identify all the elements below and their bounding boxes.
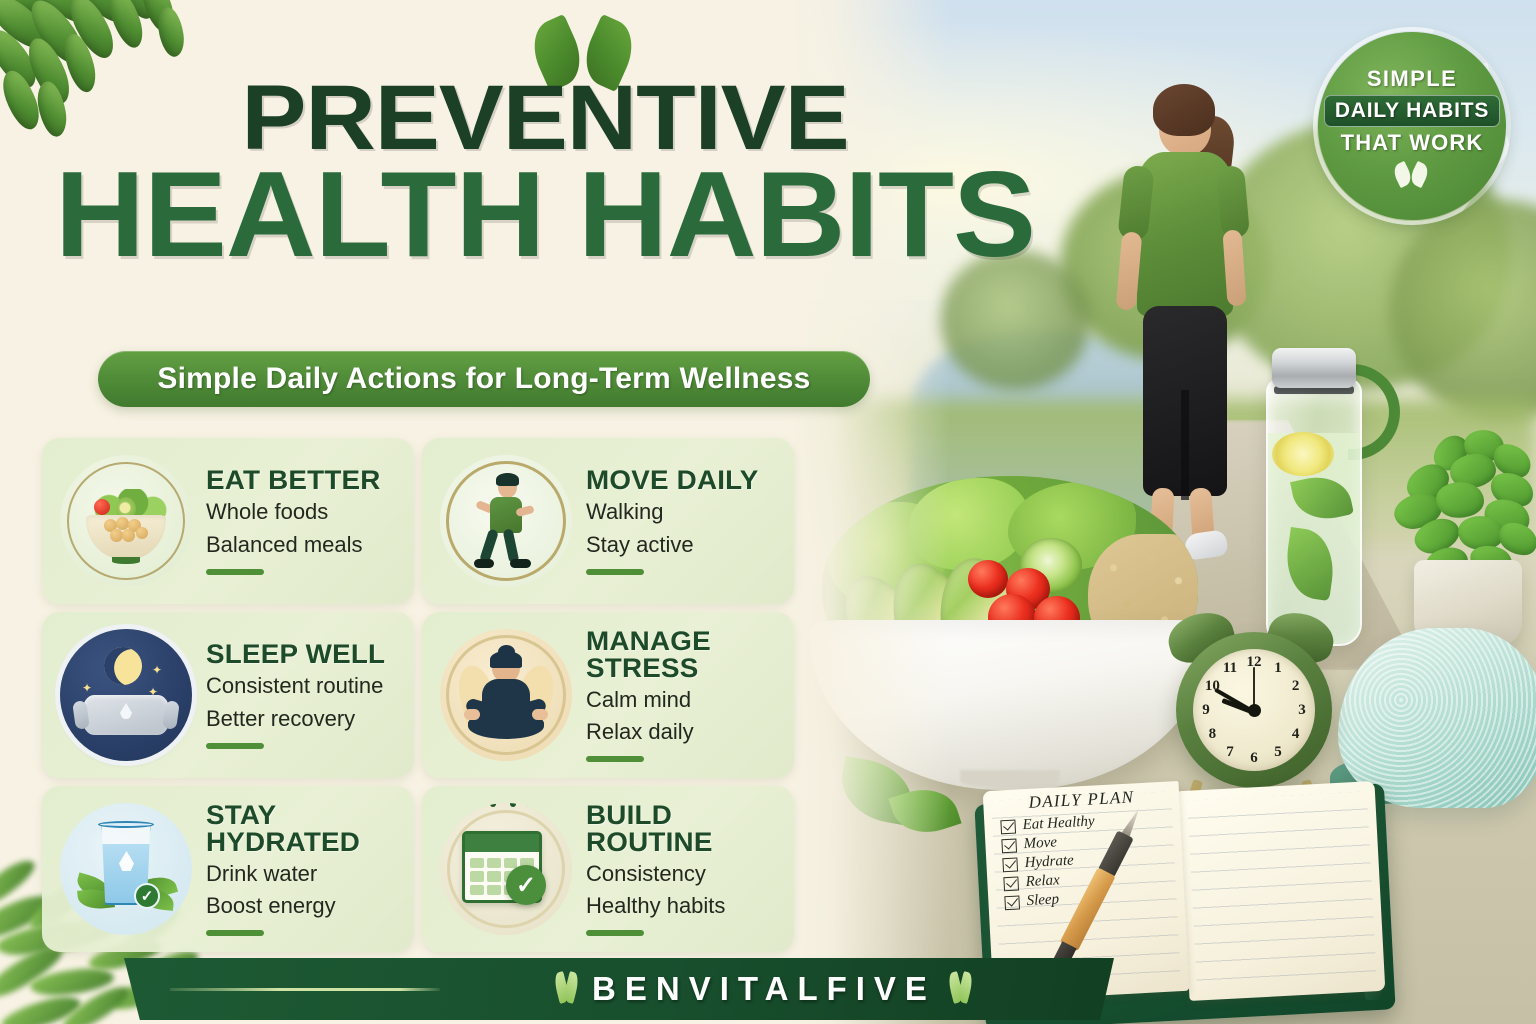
plan-item-label: Sleep [1026,891,1059,910]
leg [479,528,499,563]
accent-rule [206,569,264,575]
star-icon: ✦ [152,663,162,677]
leaf-pair-icon [556,972,578,1006]
calendar-day-cell [487,871,501,881]
accent-rule [206,930,264,936]
clock-numeral: 11 [1222,660,1238,676]
arm [475,500,495,514]
hair [496,473,519,486]
calendar-day-cell [504,871,518,881]
card-text: EAT BETTER Whole foods Balanced meals [206,467,376,574]
subtitle-text: Simple Daily Actions for Long-Term Welln… [157,362,810,396]
lemon-slice [1272,432,1334,476]
crescent-moon-icon [99,642,147,690]
hair-bun [498,645,515,659]
calendar-day-cell [470,885,484,895]
clock-numeral: 5 [1270,744,1286,760]
card-line-1: Whole foods [206,498,376,526]
salad-bowl-icon [60,455,192,587]
card-line-2: Healthy habits [586,892,778,920]
badge-line-1: SIMPLE [1367,66,1457,92]
ruled-lines [1187,791,1377,990]
arm [517,697,548,718]
card-line-1: Consistent routine [206,672,383,700]
leaf-pair-icon [950,972,972,1006]
footer-divider [170,988,440,991]
clock-numeral: 10 [1204,678,1220,694]
shoe [510,559,531,568]
status-badge: SIMPLE DAILY HABITS THAT WORK [1318,32,1506,220]
badge-line-3: THAT WORK [1341,130,1484,156]
clock-numeral: 8 [1204,726,1220,742]
card-text: MOVE DAILY Walking Stay active [586,467,754,574]
bottle-cap [1272,348,1356,388]
card-text: SLEEP WELL Consistent routine Better rec… [206,641,383,748]
crossed-legs [468,713,544,739]
checkbox-checked-icon [1002,857,1018,872]
leaf-pair-icon [1393,163,1431,187]
calendar-day-cell [487,858,501,868]
cherry-tomato [968,560,1008,598]
head [498,477,517,498]
clock-numeral: 2 [1288,678,1304,694]
clock-face: 121234567891011 [1193,649,1315,771]
checkbox-checked-icon [1001,838,1017,853]
calendar-ring [526,803,532,807]
calendar-day-cell [504,885,518,895]
habit-card-stay-hydrated[interactable]: ✓ STAY HYDRATED Drink water Boost energy [42,786,414,952]
footer-bar: BENVITALFIVE [124,958,1114,1020]
calendar-day-cell [520,871,534,881]
clock-numeral: 6 [1246,750,1262,766]
calendar-header [465,834,539,852]
plan-item-label: Move [1023,834,1057,853]
bowl [86,515,166,559]
chickpea [110,529,123,542]
calendar-day-cell [504,858,518,868]
plan-item-label: Hydrate [1024,853,1074,873]
plan-item-label: Eat Healthy [1022,813,1095,834]
card-text: BUILD ROUTINE Consistency Healthy habits [586,802,778,936]
potted-plant-photo [1380,420,1536,650]
chickpea [136,527,148,539]
shoe [474,559,494,568]
calendar-day-cell [520,858,534,868]
calendar-icon [462,831,542,903]
calendar-day-cell [470,858,484,868]
clock-numeral: 1 [1270,660,1286,676]
arm [465,697,496,718]
checkbox-checked-icon [1000,819,1016,834]
calendar-grid [470,858,534,895]
card-line-1: Consistency [586,860,778,888]
hand [532,709,548,720]
badge-content: SIMPLE DAILY HABITS THAT WORK [1318,32,1506,220]
calendar-check-icon: ✓ [440,803,572,935]
chickpea [104,519,117,532]
head [492,653,520,683]
torso [482,679,530,721]
accent-rule [586,569,644,575]
card-line-2: Stay active [586,531,754,559]
clock-pivot [1248,704,1261,717]
habit-card-manage-stress[interactable]: MANAGE STRESS Calm mind Relax daily [422,612,794,778]
card-title: MANAGE STRESS [586,628,784,682]
clock-numeral: 9 [1198,702,1214,718]
hair [490,651,522,668]
card-line-1: Drink water [206,860,398,888]
calendar-day-cell [520,885,534,895]
habit-card-move-daily[interactable]: MOVE DAILY Walking Stay active [422,438,794,604]
water-bottle-photo [1262,340,1372,650]
calendar-ring [510,803,516,807]
subtitle-banner: Simple Daily Actions for Long-Term Welln… [98,351,870,407]
notebook-page-right [1179,781,1386,1001]
card-title: MOVE DAILY [586,467,759,494]
card-text: MANAGE STRESS Calm mind Relax daily [586,628,778,762]
meditating-person-icon [440,629,572,761]
hair [1153,84,1215,136]
moon-pillow-icon: ✦ ✦ ✦ [60,629,192,761]
page-title: PREVENTIVE HEALTH HABITS [0,74,1090,273]
hand [464,709,480,720]
walking-person-icon [440,455,572,587]
card-line-2: Better recovery [206,705,383,733]
arm [515,505,534,517]
plan-item-label: Relax [1025,872,1060,891]
sleeve-right [1216,165,1250,239]
habit-card-eat-better[interactable]: EAT BETTER Whole foods Balanced meals [42,438,414,604]
star-icon: ✦ [82,681,92,695]
chickpea [128,519,141,532]
habit-card-sleep-well[interactable]: ✦ ✦ ✦ SLEEP WELL Consistent routine Bett… [42,612,414,778]
title-line-2: HEALTH HABITS [0,156,1101,273]
alarm-clock-photo: 121234567891011 [1162,606,1352,806]
infographic-poster: 121234567891011 DAILY PLAN Eat Healthy [0,0,1536,1024]
calendar-day-cell [487,885,501,895]
chickpea [116,517,129,530]
card-line-2: Balanced meals [206,531,376,559]
calendar-ring [490,803,496,807]
habit-card-build-routine[interactable]: ✓ BUILD ROUTINE Consistency Healthy habi… [422,786,794,952]
card-text: STAY HYDRATED Drink water Boost energy [206,802,398,936]
card-title: SLEEP WELL [206,641,389,668]
brand-lockup: BENVITALFIVE [454,958,1074,1020]
accent-rule [206,743,264,749]
chickpea [122,529,135,542]
decorative-leaf [156,6,187,59]
card-title: EAT BETTER [206,467,381,494]
aura-shape [511,662,559,730]
shirt [490,497,522,533]
habit-cards-grid: EAT BETTER Whole foods Balanced meals MO… [42,438,794,952]
greens [84,489,168,523]
card-line-2: Relax daily [586,718,778,746]
avocado [116,497,136,521]
arm-right [1222,229,1246,306]
accent-rule [586,756,644,762]
accent-rule [586,930,644,936]
leg [503,528,520,563]
card-line-1: Walking [586,498,754,526]
clock-body: 121234567891011 [1176,632,1332,788]
tomato [94,499,110,515]
checkbox-checked-icon [1003,876,1019,891]
glass-rim [98,821,154,828]
aura-shape [453,662,501,730]
clock-numeral: 7 [1222,744,1238,760]
check-badge-icon: ✓ [506,865,546,905]
clock-numeral: 12 [1246,654,1262,670]
brand-name: BENVITALFIVE [592,970,936,1008]
card-line-1: Calm mind [586,686,778,714]
water-glass-icon: ✓ [60,803,192,935]
check-badge-icon: ✓ [134,883,160,909]
bowl-foot [112,557,140,564]
checkbox-checked-icon [1004,895,1020,910]
clock-numeral: 4 [1288,726,1304,742]
calendar-day-cell [470,871,484,881]
badge-line-2: DAILY HABITS [1324,95,1500,127]
card-title: BUILD ROUTINE [586,802,784,856]
calendar-ring [474,803,480,807]
clock-numeral: 3 [1294,702,1310,718]
card-line-2: Boost energy [206,892,398,920]
card-title: STAY HYDRATED [206,802,404,856]
